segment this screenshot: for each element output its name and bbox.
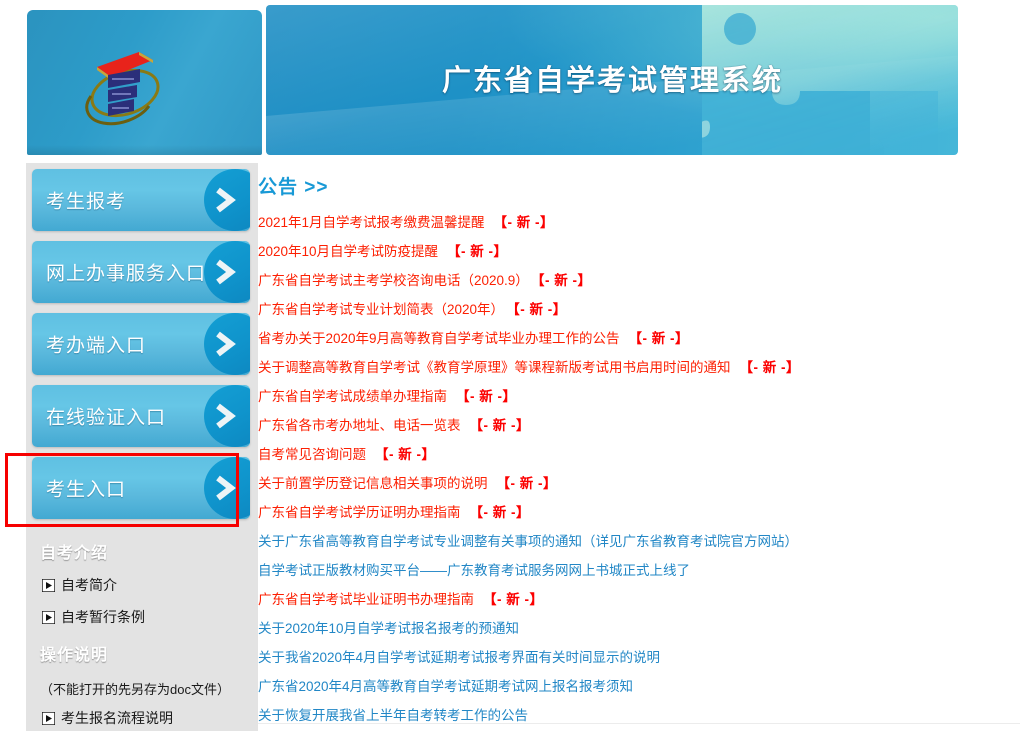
page-title: 广东省自学考试管理系统 [442, 57, 783, 99]
notice-item-label: 省考办关于2020年9月高等教育自学考试毕业办理工作的公告 [258, 331, 620, 346]
notice-item[interactable]: 2020年10月自学考试防疫提醒【- 新 -】 [258, 237, 1018, 266]
notice-item[interactable]: 关于调整高等教育自学考试《教育学原理》等课程新版考试用书启用时间的通知【- 新 … [258, 353, 1018, 382]
notice-new-badge: 【- 新 -】 [538, 273, 592, 288]
notice-item-label: 关于2020年10月自学考试报名报考的预通知 [258, 621, 519, 636]
notice-item-label: 自考常见咨询问题 [258, 447, 366, 462]
sidebar: 考生报考 网上办事服务入口 考办端入口 [26, 163, 258, 731]
notice-item-label: 广东省自学考试专业计划简表（2020年） [258, 302, 504, 317]
notices-heading[interactable]: 公告 >> [258, 172, 1018, 199]
sidebar-section-note: （不能打开的先另存为doc文件） [26, 671, 258, 702]
notice-item[interactable]: 关于广东省高等教育自学考试专业调整有关事项的通知（详见广东省教育考试院官方网站） [258, 527, 1018, 556]
notice-new-badge: 【- 新 -】 [470, 418, 531, 433]
sidebar-link-registration-process[interactable]: 考生报名流程说明 [26, 702, 258, 731]
notice-new-badge: 【- 新 -】 [483, 592, 544, 607]
notice-item-label: 广东省各市考办地址、电话一览表 [258, 418, 461, 433]
notice-item[interactable]: 关于我省2020年4月自学考试延期考试报考界面有关时间显示的说明 [258, 643, 1018, 672]
logo-panel [27, 10, 262, 155]
gdeea-emblem-logo [77, 38, 173, 132]
sidebar-item-label: 网上办事服务入口 [46, 259, 206, 286]
notice-item-label: 广东省自学考试毕业证明书办理指南 [258, 592, 474, 607]
notice-new-badge: 【- 新 -】 [497, 476, 558, 491]
notice-item-label: 关于广东省高等教育自学考试专业调整有关事项的通知（详见广东省教育考试院官方网站） [258, 534, 798, 549]
triangle-bullet-icon [42, 712, 55, 725]
sidebar-section-heading-instructions: 操作说明 [26, 637, 258, 669]
notice-item[interactable]: 关于2020年10月自学考试报名报考的预通知 [258, 614, 1018, 643]
notice-new-badge: 【- 新 -】 [470, 505, 531, 520]
notice-item-label: 关于前置学历登记信息相关事项的说明 [258, 476, 488, 491]
bottom-divider [258, 723, 1020, 724]
sidebar-item-candidate-entry[interactable]: 考生入口 [32, 457, 250, 519]
page-root: 广东省自学考试管理系统 考生报考 网上办事服务入口 [0, 0, 1026, 731]
notice-item-label: 广东省自学考试学历证明办理指南 [258, 505, 461, 520]
notice-item[interactable]: 广东省各市考办地址、电话一览表【- 新 -】 [258, 411, 1018, 440]
notice-item[interactable]: 省考办关于2020年9月高等教育自学考试毕业办理工作的公告【- 新 -】 [258, 324, 1018, 353]
notice-item-label: 关于我省2020年4月自学考试延期考试报考界面有关时间显示的说明 [258, 650, 660, 665]
sidebar-link-label: 考生报名流程说明 [61, 708, 173, 728]
sidebar-item-online-verification-entry[interactable]: 在线验证入口 [32, 385, 250, 447]
notice-new-badge: 【- 新 -】 [447, 244, 508, 259]
triangle-bullet-icon [42, 579, 55, 592]
notice-item-label: 关于调整高等教育自学考试《教育学原理》等课程新版考试用书启用时间的通知 [258, 360, 731, 375]
notice-item-label: 广东省自学考试成绩单办理指南 [258, 389, 447, 404]
chevron-right-icon [214, 186, 236, 214]
header-banner: 广东省自学考试管理系统 [266, 5, 958, 155]
notice-item-label: 2020年10月自学考试防疫提醒 [258, 244, 438, 259]
sidebar-item-kaosheng-baokao[interactable]: 考生报考 [32, 169, 250, 231]
notice-item[interactable]: 自考常见咨询问题【- 新 -】 [258, 440, 1018, 469]
notice-item[interactable]: 广东省自学考试成绩单办理指南【- 新 -】 [258, 382, 1018, 411]
notice-item[interactable]: 广东省自学考试主考学校咨询电话（2020.9）【- 新 -】 [258, 266, 1018, 295]
site-header: 广东省自学考试管理系统 [0, 0, 1026, 158]
notice-item[interactable]: 广东省2020年4月高等教育自学考试延期考试网上报名报考须知 [258, 672, 1018, 701]
notice-item[interactable]: 广东省自学考试专业计划简表（2020年）【- 新 -】 [258, 295, 1018, 324]
notice-item-label: 2021年1月自学考试报考缴费温馨提醒 [258, 215, 485, 230]
sidebar-item-exam-office-entry[interactable]: 考办端入口 [32, 313, 250, 375]
notice-new-badge: 【- 新 -】 [740, 360, 801, 375]
chevron-right-icon [214, 330, 236, 358]
triangle-bullet-icon [42, 611, 55, 624]
sidebar-nav-list: 考生报考 网上办事服务入口 考办端入口 [26, 163, 258, 531]
notice-item[interactable]: 关于恢复开展我省上半年自考转考工作的公告 [258, 701, 1018, 730]
notice-item[interactable]: 广东省自学考试毕业证明书办理指南【- 新 -】 [258, 585, 1018, 614]
notice-item[interactable]: 广东省自学考试学历证明办理指南【- 新 -】 [258, 498, 1018, 527]
sidebar-link-zikao-brief[interactable]: 自考简介 [26, 569, 258, 601]
notice-new-badge: 【- 新 -】 [494, 215, 555, 230]
sidebar-item-label: 在线验证入口 [46, 403, 166, 430]
notice-item-label: 广东省2020年4月高等教育自学考试延期考试网上报名报考须知 [258, 679, 633, 694]
chevron-right-icon [214, 474, 236, 502]
notice-new-badge: 【- 新 -】 [375, 447, 436, 462]
chevron-right-icon [214, 402, 236, 430]
notices-list: 2021年1月自学考试报考缴费温馨提醒【- 新 -】2020年10月自学考试防疫… [258, 208, 1018, 731]
notice-item-label: 广东省自学考试主考学校咨询电话（2020.9） [258, 273, 529, 288]
sidebar-link-label: 自考暂行条例 [61, 607, 145, 627]
notice-item-label: 自学考试正版教材购买平台——广东教育考试服务网网上书城正式上线了 [258, 563, 690, 578]
notice-item[interactable]: 2021年1月自学考试报考缴费温馨提醒【- 新 -】 [258, 208, 1018, 237]
notice-item[interactable]: 自学考试正版教材购买平台——广东教育考试服务网网上书城正式上线了 [258, 556, 1018, 585]
notice-item[interactable]: 关于前置学历登记信息相关事项的说明【- 新 -】 [258, 469, 1018, 498]
sidebar-link-label: 自考简介 [61, 575, 117, 595]
sidebar-item-label: 考办端入口 [46, 331, 146, 358]
sidebar-item-online-service-entry[interactable]: 网上办事服务入口 [32, 241, 250, 303]
notice-new-badge: 【- 新 -】 [456, 389, 517, 404]
sidebar-item-label: 考生入口 [46, 475, 126, 502]
sidebar-section-heading-intro: 自考介绍 [26, 535, 258, 567]
sidebar-link-zikao-regulations[interactable]: 自考暂行条例 [26, 601, 258, 633]
chevron-right-icon [214, 258, 236, 286]
notices-panel: 公告 >> 2021年1月自学考试报考缴费温馨提醒【- 新 -】2020年10月… [258, 172, 1018, 731]
notice-new-badge: 【- 新 -】 [513, 302, 567, 317]
notice-item-label: 关于恢复开展我省上半年自考转考工作的公告 [258, 708, 528, 723]
sidebar-item-label: 考生报考 [46, 187, 126, 214]
notice-new-badge: 【- 新 -】 [629, 331, 690, 346]
